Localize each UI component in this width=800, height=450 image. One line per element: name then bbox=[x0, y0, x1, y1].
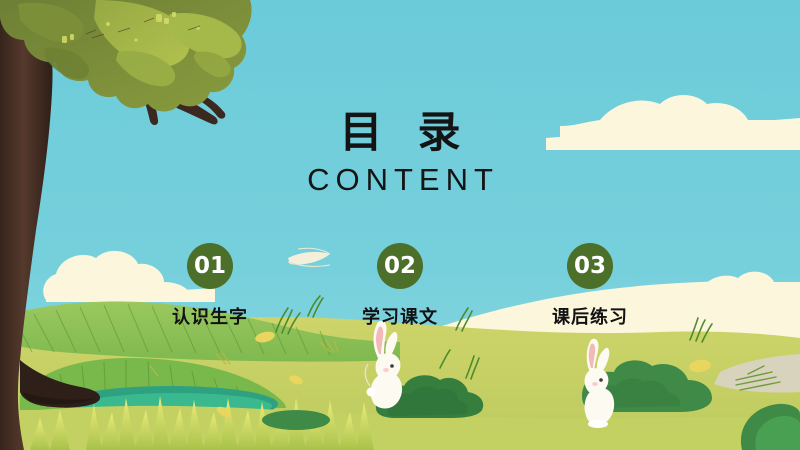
agenda-number-badge-01[interactable]: 01 bbox=[187, 243, 233, 289]
agenda-label-02[interactable]: 学习课文 bbox=[362, 303, 438, 329]
tree-illustration bbox=[0, 0, 800, 450]
agenda-number-badge-02[interactable]: 02 bbox=[377, 243, 423, 289]
page-title-cn: 目 录 bbox=[0, 108, 800, 158]
agenda-item-01[interactable]: 01 认识生字 bbox=[140, 243, 280, 329]
agenda-number-badge-03[interactable]: 03 bbox=[567, 243, 613, 289]
agenda-label-03[interactable]: 课后练习 bbox=[552, 303, 628, 329]
agenda-item-03[interactable]: 03 课后练习 bbox=[520, 243, 660, 329]
slide-canvas: 目 录 CONTENT 01 认识生字 02 学习课文 03 课后练习 bbox=[0, 0, 800, 450]
agenda-list: 01 认识生字 02 学习课文 03 课后练习 bbox=[140, 243, 660, 333]
agenda-item-02[interactable]: 02 学习课文 bbox=[330, 243, 470, 329]
agenda-label-01[interactable]: 认识生字 bbox=[172, 303, 248, 329]
page-title-en: CONTENT bbox=[0, 162, 800, 198]
title-block: 目 录 CONTENT bbox=[0, 108, 800, 198]
